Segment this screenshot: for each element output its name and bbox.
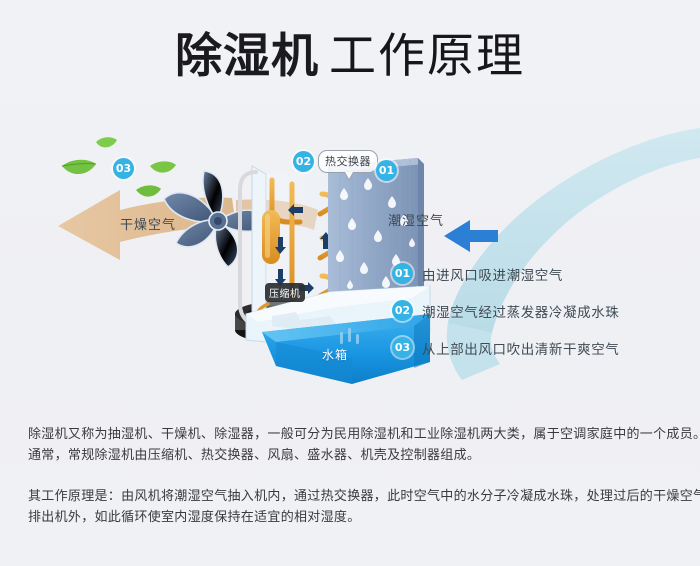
paragraph-1-line-2: 通常，常规除湿机由压缩机、热交换器、风扇、盛水器、机壳及控制器组成。	[28, 445, 676, 466]
title-main: 除湿机	[175, 29, 319, 84]
label-heat-exchanger: 热交换器	[318, 150, 378, 173]
badge-dry-air: 03	[113, 158, 134, 179]
paragraph-2: 其工作原理是：由风机将潮湿空气抽入机内，通过热交换器，此时空气中的水分子冷凝成水…	[28, 486, 676, 528]
legend-text-02: 潮湿空气经过蒸发器冷凝成水珠	[422, 301, 619, 321]
legend-list: 01 由进风口吸进潮湿空气 02 潮湿空气经过蒸发器冷凝成水珠 03 从上部出风…	[392, 255, 672, 366]
label-humid-air: 潮湿空气	[388, 210, 444, 229]
paragraph-1: 除湿机又称为抽湿机、干燥机、除湿器，一般可分为民用除湿机和工业除湿机两大类，属于…	[28, 424, 676, 466]
legend-item-02: 02 潮湿空气经过蒸发器冷凝成水珠	[392, 292, 672, 329]
callout-tail-icon	[344, 172, 354, 181]
legend-item-03: 03 从上部出风口吹出清新干爽空气	[392, 329, 672, 366]
description-copy: 除湿机又称为抽湿机、干燥机、除湿器，一般可分为民用除湿机和工业除湿机两大类，属于…	[28, 424, 676, 548]
accumulator-graphic	[262, 210, 280, 264]
legend-badge-02: 02	[392, 300, 413, 321]
paragraph-2-line-2: 排出机外，如此循环使室内湿度保持在适宜的相对湿度。	[28, 507, 676, 528]
label-compressor: 压缩机	[265, 283, 305, 302]
legend-text-03: 从上部出风口吹出清新干爽空气	[422, 338, 619, 358]
legend-text-01: 由进风口吸进潮湿空气	[422, 264, 563, 284]
title-sub: 工作原理	[329, 29, 525, 84]
label-water-tank: 水箱	[322, 346, 348, 363]
legend-badge-01: 01	[392, 263, 413, 284]
badge-heat-exchanger: 02	[293, 151, 314, 172]
paragraph-2-line-1: 其工作原理是：由风机将潮湿空气抽入机内，通过热交换器，此时空气中的水分子冷凝成水…	[28, 486, 676, 507]
paragraph-1-line-1: 除湿机又称为抽湿机、干燥机、除湿器，一般可分为民用除湿机和工业除湿机两大类，属于…	[28, 424, 676, 445]
legend-badge-03: 03	[392, 337, 413, 358]
page-title: 除湿机工作原理	[0, 33, 700, 80]
badge-humid-air: 01	[376, 160, 397, 181]
label-dry-air: 干燥空气	[120, 214, 176, 233]
legend-item-01: 01 由进风口吸进潮湿空气	[392, 255, 672, 292]
infographic-page: 除湿机工作原理	[0, 0, 700, 566]
